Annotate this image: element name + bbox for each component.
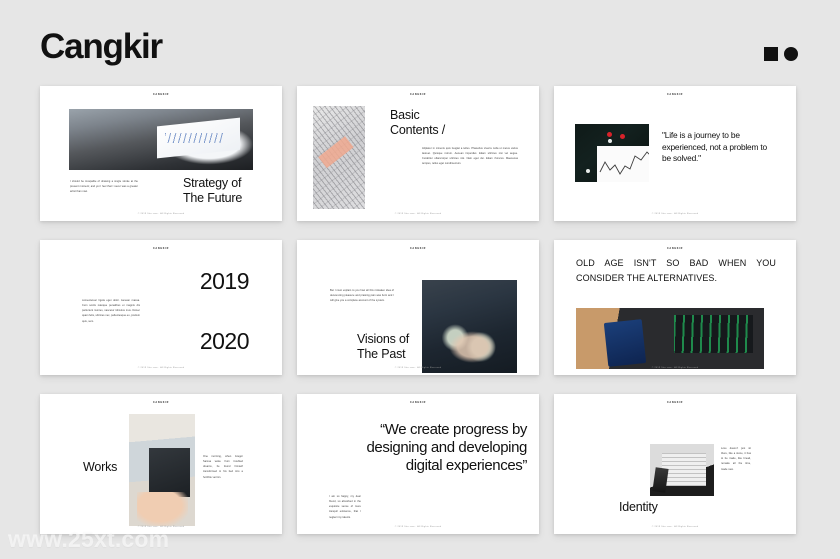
white-dot-icon [608,139,612,143]
slide-thumbnail-we-create-progress-quote[interactable]: CANGKIR “We create progress by designing… [297,394,539,534]
slide-thumbnail-life-is-a-journey-quote[interactable]: CANGKIR "Life is a journey to be experie… [554,86,796,221]
slide-heading: “We create progress by designing and dev… [352,421,527,475]
slide-heading: Works [83,460,131,475]
slide-footer: © 2019 Site.com · All Rights Reserved [554,526,796,528]
slide-footer: © 2019 Site.com · All Rights Reserved [40,213,282,215]
slide-heading: Visions of The Past [357,332,427,363]
slide-tag: CANGKIR [554,247,796,250]
red-dot-icon [607,132,612,137]
slide-body-text: Aliptatur in cimenis quis feugiat a tell… [422,146,518,167]
red-dot-icon [620,134,625,139]
square-mark-icon [764,47,778,61]
dark-stock-chart-photo [575,124,649,182]
phone-and-laptop-trading-photo [576,308,764,369]
slide-body-text: consectetuer ligula eget dolor. Aenean m… [82,298,140,324]
page-title: Cangkir [40,29,162,64]
year-bottom-label: 2020 [200,328,249,355]
slide-tag: CANGKIR [297,401,539,404]
page-header: Cangkir [0,0,840,86]
slide-tag: CANGKIR [554,401,796,404]
slide-footer: © 2019 Site.com · All Rights Reserved [297,367,539,369]
slide-tag: CANGKIR [297,247,539,250]
slide-body-text: I should be incapable of drawing a singl… [70,179,138,194]
slide-body-text: But I must explain to you how all this m… [330,288,394,303]
slide-footer: © 2019 Site.com · All Rights Reserved [554,367,796,369]
slide-heading: OLD AGE ISN'T SO BAD WHEN YOU CONSIDER T… [576,256,776,287]
slide-footer: © 2019 Site.com · All Rights Reserved [554,213,796,215]
slide-thumbnail-strategy-of-the-future[interactable]: CANGKIR I should be incapable of drawing… [40,86,282,221]
slide-tag: CANGKIR [40,401,282,404]
white-dot-icon [586,169,590,173]
slide-body-text: Love doesn't just sit there, like a ston… [721,446,751,472]
watermark: www.25xt.com [8,526,169,553]
slide-body-text: One morning, when Gregor Samsa woke from… [203,454,243,480]
slide-footer: © 2019 Site.com · All Rights Reserved [297,213,539,215]
slide-tag: CANGKIR [40,247,282,250]
slide-heading: Identity [619,500,689,515]
chart-panel [597,146,649,182]
year-top-label: 2019 [200,268,249,295]
slide-thumbnail-years-2019-2020[interactable]: CANGKIR 2019 consectetuer ligula eget do… [40,240,282,375]
slide-thumbnail-basic-contents[interactable]: CANGKIR Basic Contents / Aliptatur in ci… [297,86,539,221]
slide-grid: CANGKIR I should be incapable of drawing… [40,86,796,534]
slide-footer: © 2019 Site.com · All Rights Reserved [297,526,539,528]
slide-body-text: I am so happy, my dear friend, so absorb… [329,494,361,520]
hands-holding-money-photo [422,280,517,373]
slide-tag: CANGKIR [40,93,282,96]
laptop-by-the-window-photo [129,414,195,526]
presentation-preview-page: Cangkir CANGKIR I should be incapable of… [0,0,840,559]
slide-tag: CANGKIR [554,93,796,96]
circle-mark-icon [784,47,798,61]
slide-heading: "Life is a journey to be experienced, no… [662,130,774,165]
slide-heading: Strategy of The Future [183,176,278,207]
laptop-and-phone-photo [69,109,253,170]
slide-heading: Basic Contents / [390,108,520,139]
newspaper-clipping-photo [313,106,365,209]
slide-thumbnail-old-age-alternatives[interactable]: CANGKIR OLD AGE ISN'T SO BAD WHEN YOU CO… [554,240,796,375]
slide-thumbnail-works[interactable]: CANGKIR Works One morning, when Gregor S… [40,394,282,534]
line-chart-icon [597,146,649,182]
slide-thumbnail-visions-of-the-past[interactable]: CANGKIR But I must explain to you how al… [297,240,539,375]
slide-tag: CANGKIR [297,93,539,96]
header-marks [764,47,798,61]
slide-thumbnail-identity[interactable]: CANGKIR Love doesn't just sit there, lik… [554,394,796,534]
slide-footer: © 2019 Site.com · All Rights Reserved [40,367,282,369]
magazine-spread-photo [650,444,714,496]
